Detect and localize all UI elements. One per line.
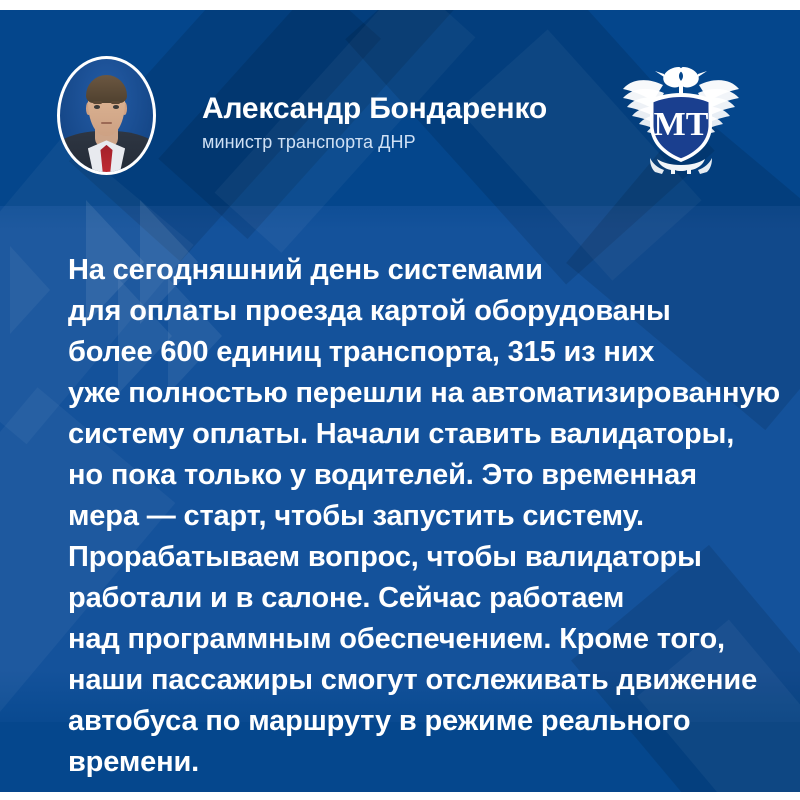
quote-line: наши пассажиры смогут отслеживать движен… xyxy=(68,660,780,701)
quote-line: На сегодняшний день системами xyxy=(68,250,780,291)
speaker-name: Александр Бондаренко xyxy=(202,92,622,126)
quote-line: но пока только у водителей. Это временна… xyxy=(68,455,780,496)
quote-line: над программным обеспечением. Кроме того… xyxy=(68,619,780,660)
quote-line: времени. xyxy=(68,742,780,783)
quote-card: Александр Бондаренко министр транспорта … xyxy=(0,0,800,800)
avatar xyxy=(57,56,156,175)
ministry-emblem-icon: МТ xyxy=(617,55,745,180)
speaker-block: Александр Бондаренко министр транспорта … xyxy=(202,92,622,153)
quote-text: На сегодняшний день системами для оплаты… xyxy=(68,250,780,783)
quote-line: более 600 единиц транспорта, 315 из них xyxy=(68,332,780,373)
avatar-ring xyxy=(57,56,156,175)
speaker-role: министр транспорта ДНР xyxy=(202,132,622,153)
quote-line: Прорабатываем вопрос, чтобы валидаторы xyxy=(68,537,780,578)
emblem-monogram: МТ xyxy=(654,106,709,143)
quote-line: для оплаты проезда картой оборудованы xyxy=(68,291,780,332)
quote-line: систему оплаты. Начали ставить валидатор… xyxy=(68,414,780,455)
card-canvas: Александр Бондаренко министр транспорта … xyxy=(0,10,800,792)
quote-line: автобуса по маршруту в режиме реального xyxy=(68,701,780,742)
quote-line: работали и в салоне. Сейчас работаем xyxy=(68,578,780,619)
quote-line: мера — старт, чтобы запустить систему. xyxy=(68,496,780,537)
quote-line: уже полностью перешли на автоматизирован… xyxy=(68,373,780,414)
